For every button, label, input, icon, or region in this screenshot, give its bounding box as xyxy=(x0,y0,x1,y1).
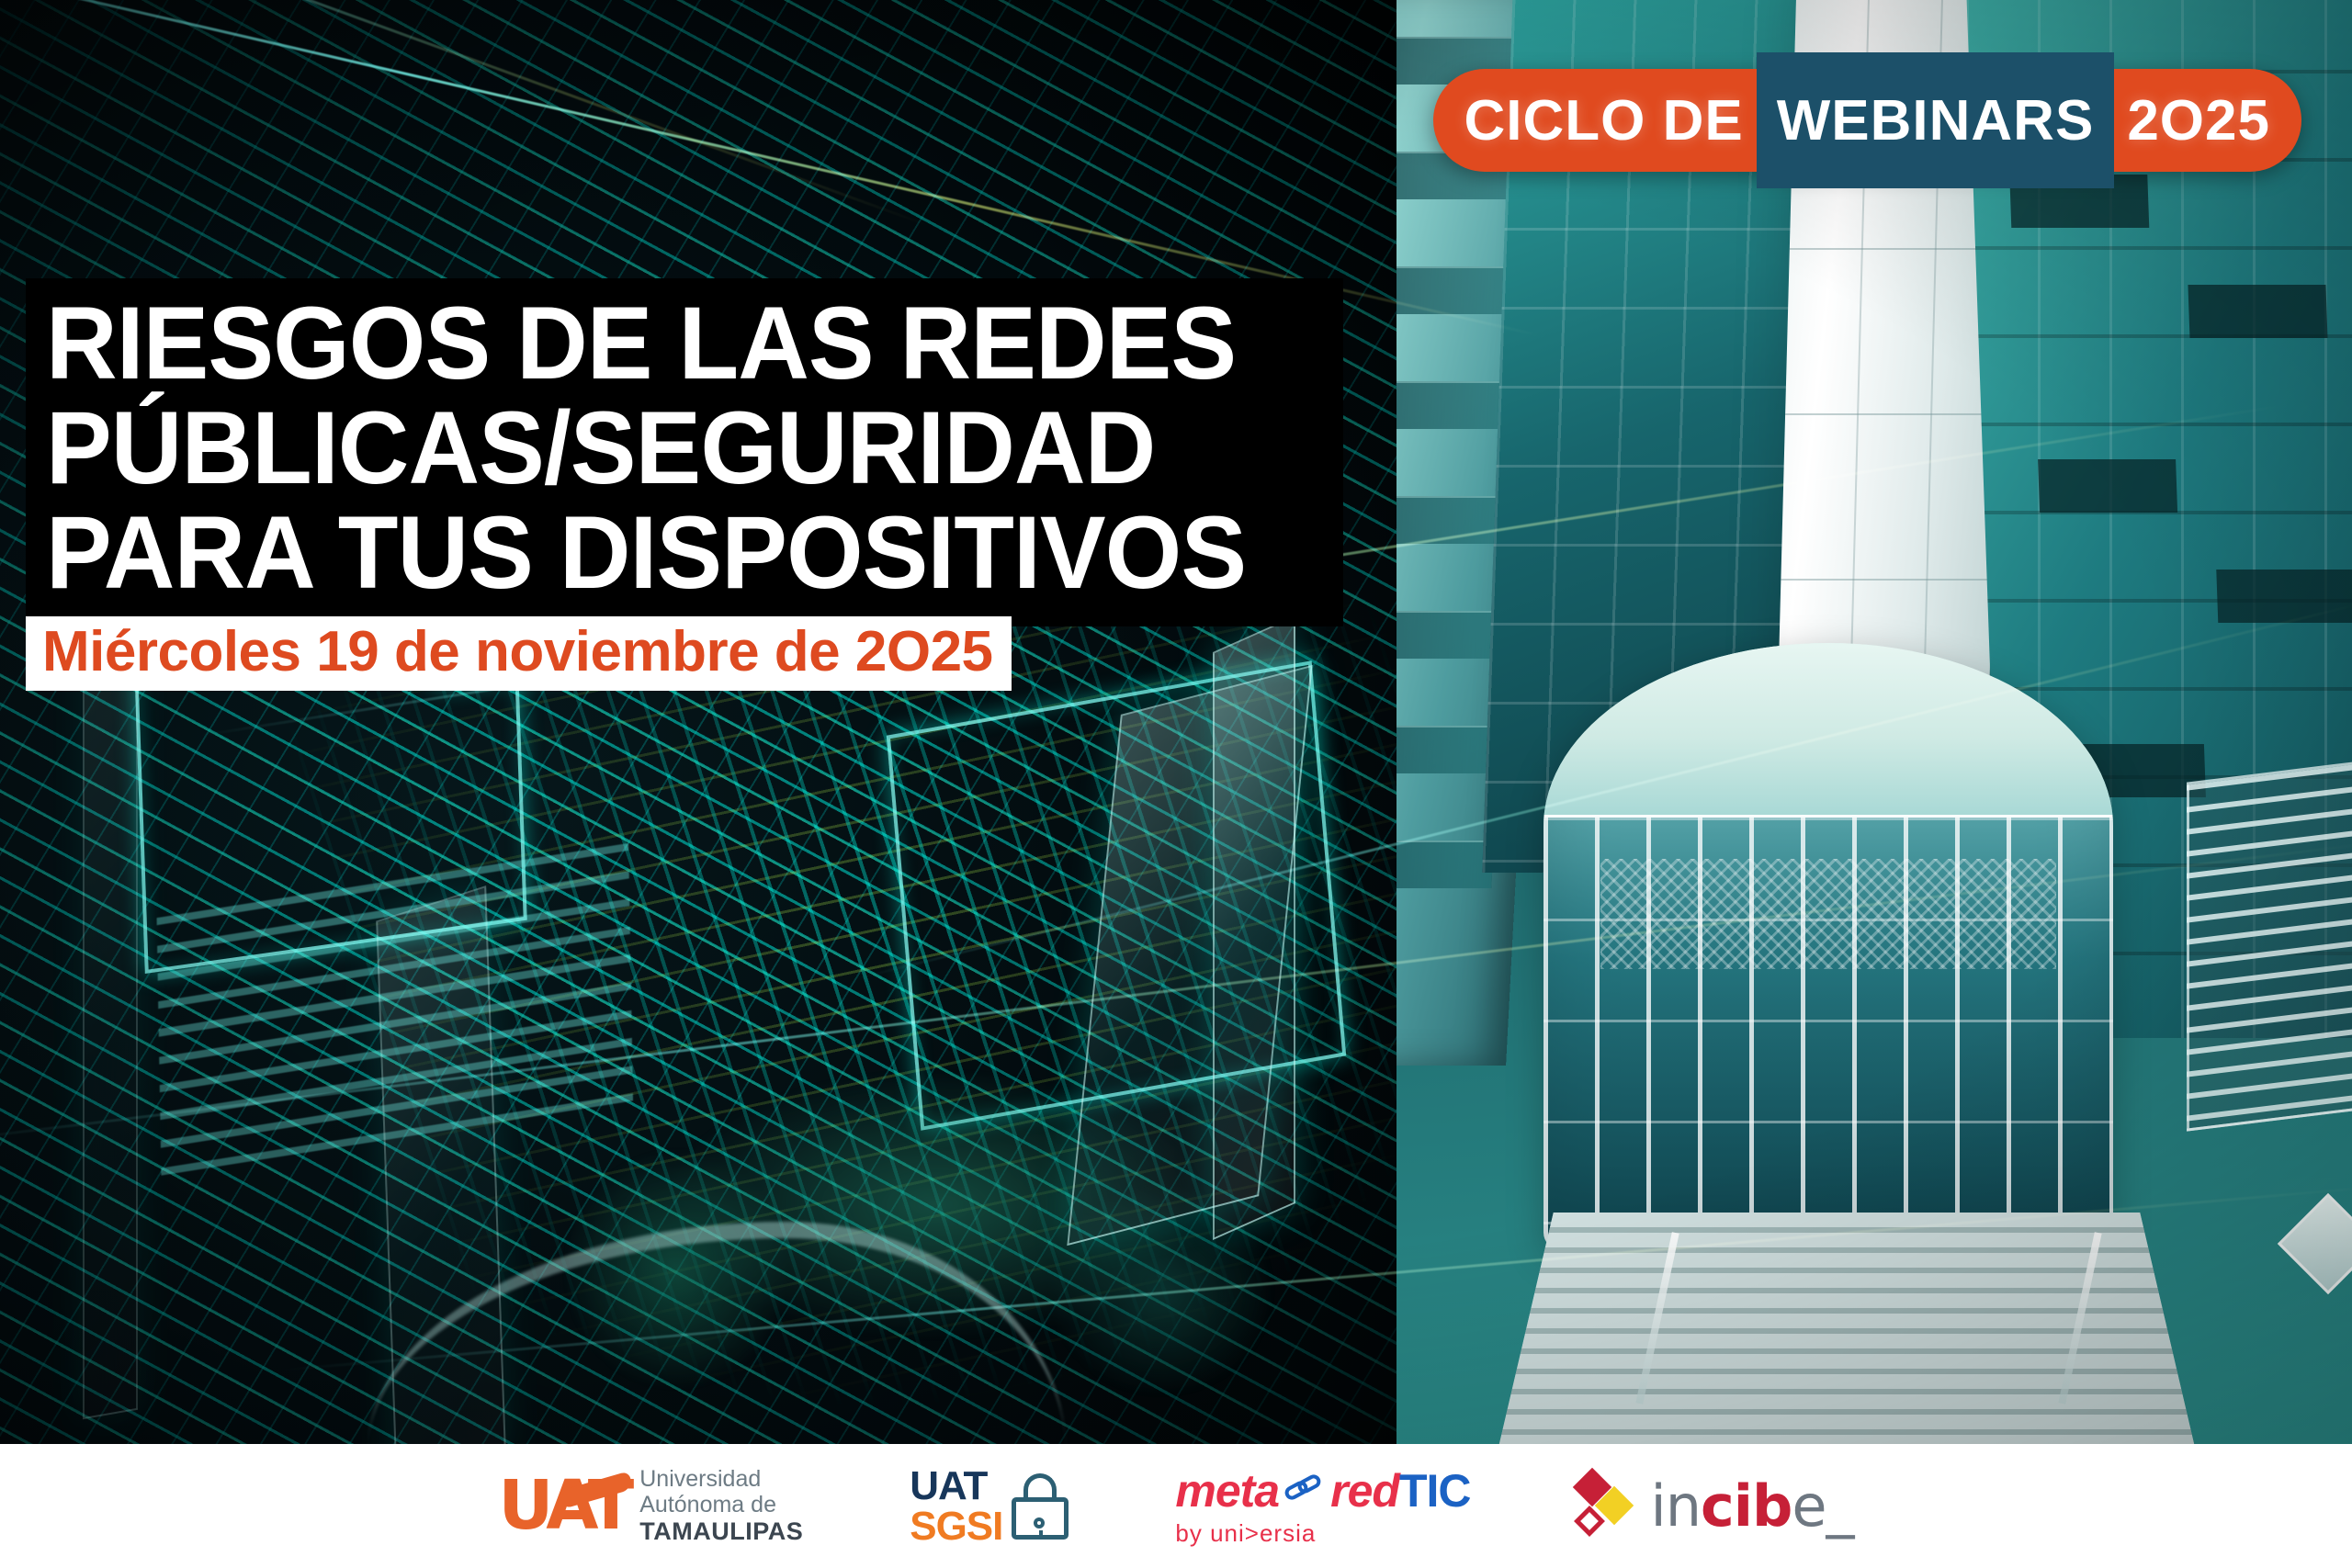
webinar-poster: CICLO DE WEBINARS 2O25 RIESGOS DE LAS RE… xyxy=(0,0,2352,1568)
badge-highlight: WEBINARS xyxy=(1757,52,2115,188)
logo-uat[interactable]: UAT Universidad Autónoma de TAMAULIPAS xyxy=(498,1466,803,1545)
metaredtic-wordmark: meta red TIC xyxy=(1175,1464,1470,1517)
sgsi-bottom: SGSI xyxy=(910,1506,1002,1547)
padlock-icon xyxy=(1012,1473,1069,1540)
sgsi-wordmark: UAT SGSI xyxy=(910,1466,1002,1547)
metaredtic-part-1: meta xyxy=(1175,1464,1279,1517)
uat-wordmark: UAT xyxy=(498,1475,628,1537)
logo-metaredtic[interactable]: meta red TIC by uni>ersia xyxy=(1175,1464,1470,1548)
poster-title: RIESGOS DE LAS REDES PÚBLICAS/SEGURIDAD … xyxy=(26,278,1343,626)
incibe-part-2: cib xyxy=(1701,1472,1792,1540)
badge-prefix: CICLO DE xyxy=(1464,69,1744,172)
sgsi-top: UAT xyxy=(910,1466,1002,1506)
uat-line-3: TAMAULIPAS xyxy=(639,1517,803,1545)
logo-uat-sgsi[interactable]: UAT SGSI xyxy=(910,1466,1069,1547)
event-date: Miércoles 19 de noviembre de 2O25 xyxy=(42,622,993,682)
webinar-series-badge: CICLO DE WEBINARS 2O25 xyxy=(1433,69,2301,172)
logo-incibe[interactable]: incibe_ xyxy=(1577,1472,1853,1541)
metaredtic-part-3: TIC xyxy=(1399,1464,1471,1517)
chain-link-icon xyxy=(1284,1475,1325,1506)
uat-subtext: Universidad Autónoma de TAMAULIPAS xyxy=(639,1466,803,1545)
incibe-wordmark: incibe_ xyxy=(1650,1472,1853,1540)
title-line-3: PARA TUS DISPOSITIVOS xyxy=(46,501,1270,605)
incibe-part-1: in xyxy=(1650,1472,1701,1540)
badge-year: 2O25 xyxy=(2127,69,2270,172)
uat-line-1: Universidad xyxy=(639,1466,803,1492)
vignette xyxy=(0,0,2352,1568)
incibe-part-3: e_ xyxy=(1792,1472,1853,1540)
event-date-band: Miércoles 19 de noviembre de 2O25 xyxy=(26,616,1012,691)
sponsor-footer: UAT Universidad Autónoma de TAMAULIPAS U… xyxy=(0,1444,2352,1568)
uat-line-2: Autónoma de xyxy=(639,1492,803,1517)
title-line-1: RIESGOS DE LAS REDES xyxy=(46,291,1270,396)
diamonds-icon xyxy=(1577,1472,1635,1541)
title-line-2: PÚBLICAS/SEGURIDAD xyxy=(46,396,1270,501)
metaredtic-part-2: red xyxy=(1330,1464,1399,1517)
metaredtic-tagline: by uni>ersia xyxy=(1175,1519,1316,1548)
